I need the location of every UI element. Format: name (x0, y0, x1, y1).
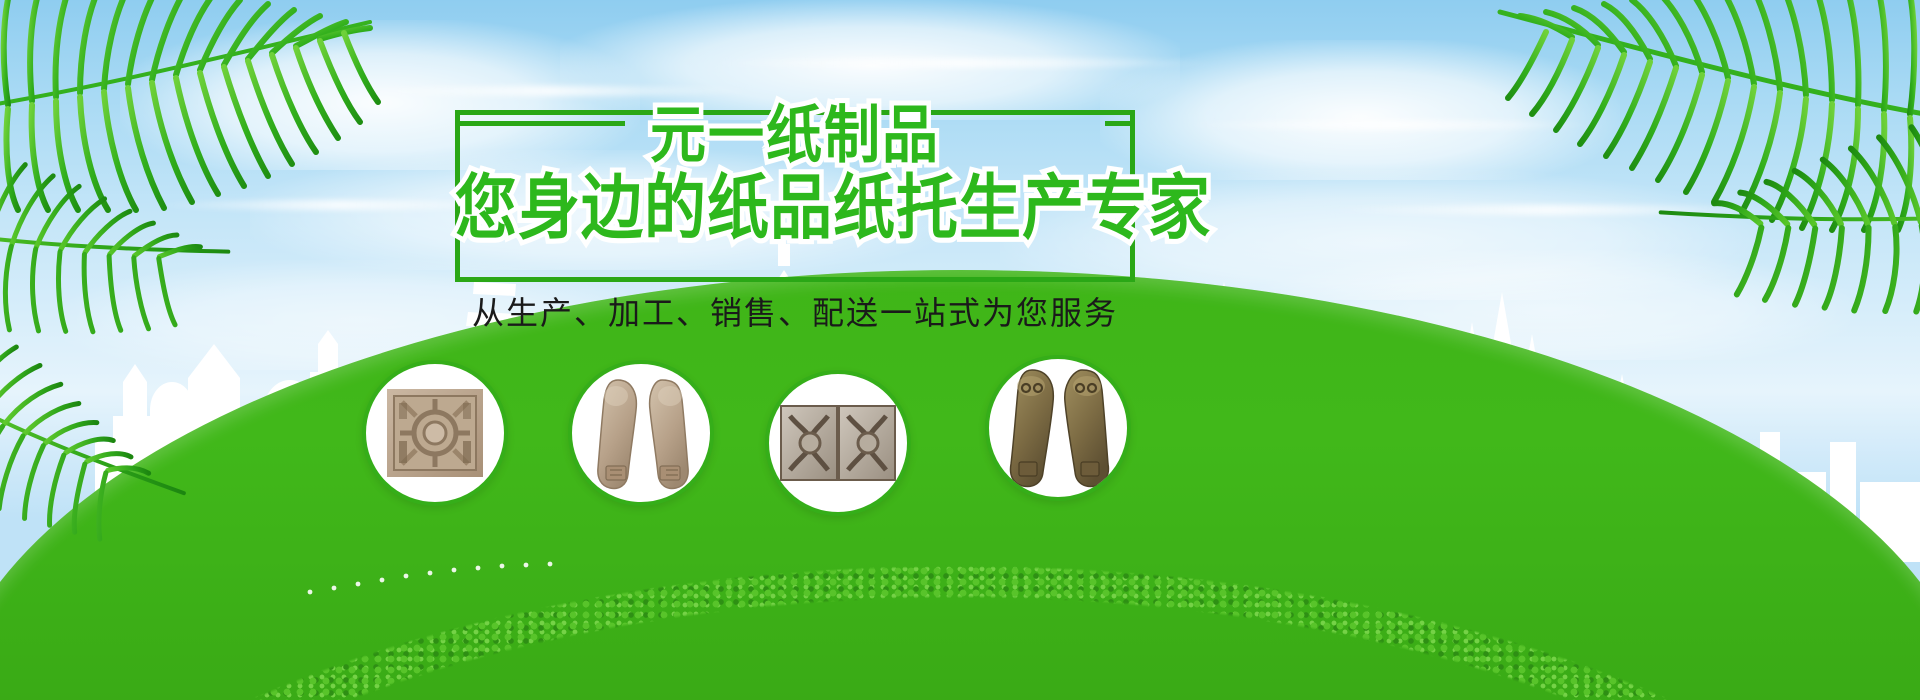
product-thumbnail-molded-pulp-corner-protectors[interactable] (765, 370, 911, 516)
product-thumbnail-molded-pulp-shoe-inserts-light[interactable] (568, 360, 714, 506)
cloud-streak-decoration (700, 58, 1220, 68)
headline-block: 元一纸制品 您身边的纸品纸托生产专家 (455, 85, 1135, 285)
product-thumbnail-molded-pulp-square-tray[interactable] (362, 360, 508, 506)
product-thumbnail-molded-pulp-shoe-inserts-dark[interactable] (985, 355, 1131, 501)
promotional-banner: 元一纸制品 您身边的纸品纸托生产专家 从生产、加工、销售、配送一站式为您服务 (0, 0, 1920, 700)
banner-subtitle: 从生产、加工、销售、配送一站式为您服务 (455, 288, 1135, 334)
headline-secondary: 您身边的纸品纸托生产专家 (455, 150, 1135, 253)
cloud-streak-decoration (1180, 120, 1600, 130)
